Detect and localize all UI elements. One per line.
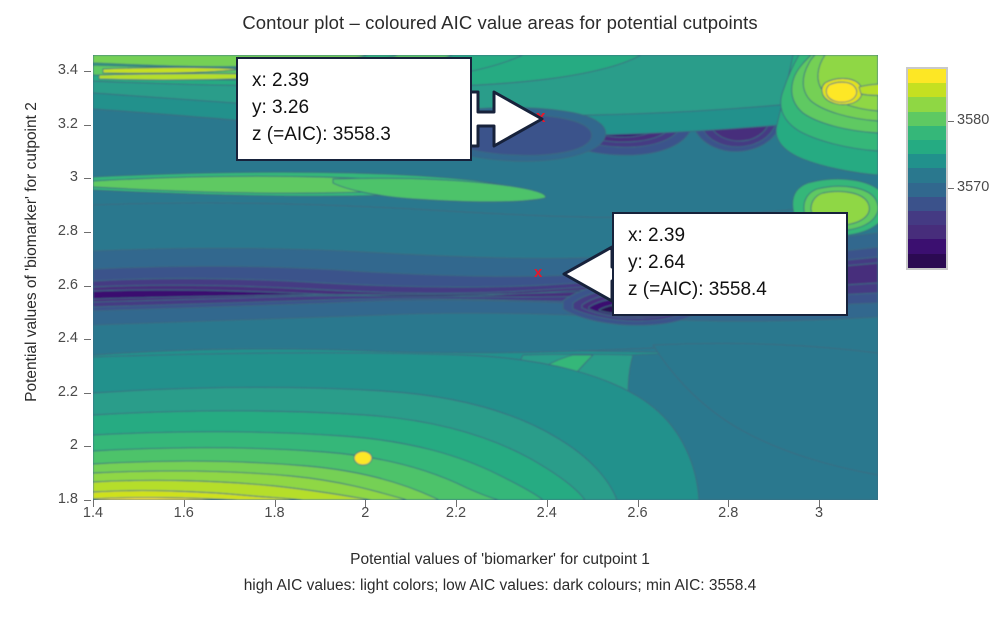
- colorbar-band: [908, 168, 946, 182]
- x-tick-mark: [638, 500, 639, 507]
- x-tick-mark: [184, 500, 185, 507]
- callout-lower-z: z (=AIC): 3558.4: [628, 277, 832, 304]
- y-tick-mark: [84, 286, 91, 287]
- callout-lower-x: x: 2.39: [628, 223, 832, 250]
- x-tick-mark: [728, 500, 729, 507]
- colorbar-band: [908, 154, 946, 168]
- y-tick-mark: [84, 339, 91, 340]
- colorbar-band: [908, 112, 946, 126]
- colorbar-band: [908, 254, 946, 268]
- colorbar-tick-mark: [948, 121, 954, 122]
- callout-minimum-lower: x: 2.39 y: 2.64 z (=AIC): 3558.4: [612, 212, 848, 316]
- y-tick-mark: [84, 393, 91, 394]
- x-tick-label: 2: [340, 505, 390, 521]
- x-tick-mark: [365, 500, 366, 507]
- callout-arrow-upper: [460, 86, 548, 152]
- colorbar-tick-label: 3580: [957, 112, 989, 128]
- x-tick-label: 1.8: [250, 505, 300, 521]
- x-tick-label: 1.4: [68, 505, 118, 521]
- x-tick-mark: [547, 500, 548, 507]
- x-axis-label: Potential values of 'biomarker' for cutp…: [0, 551, 1000, 569]
- x-tick-label: 3: [794, 505, 844, 521]
- colorbar-band: [908, 83, 946, 97]
- y-tick-mark: [84, 125, 91, 126]
- x-tick-label: 2.6: [613, 505, 663, 521]
- x-tick-mark: [456, 500, 457, 507]
- x-tick-label: 2.4: [522, 505, 572, 521]
- callout-lower-y: y: 2.64: [628, 250, 832, 277]
- callout-upper-x: x: 2.39: [252, 68, 456, 95]
- callout-minimum-upper: x: 2.39 y: 3.26 z (=AIC): 3558.3: [236, 57, 472, 161]
- y-tick-mark: [84, 178, 91, 179]
- chart-subcaption: high AIC values: light colors; low AIC v…: [0, 577, 1000, 595]
- colorbar-band: [908, 126, 946, 140]
- colorbar-band: [908, 239, 946, 253]
- x-tick-label: 2.2: [431, 505, 481, 521]
- colorbar-band: [908, 197, 946, 211]
- colorbar-band: [908, 97, 946, 111]
- x-tick-mark: [93, 500, 94, 507]
- callout-upper-y: y: 3.26: [252, 95, 456, 122]
- colorbar-band: [908, 225, 946, 239]
- colorbar-tick-mark: [948, 188, 954, 189]
- colorbar: [906, 67, 948, 270]
- colorbar-band: [908, 140, 946, 154]
- y-tick-mark: [84, 232, 91, 233]
- y-axis-label: Potential values of 'biomarker' for cutp…: [23, 42, 41, 462]
- y-tick-mark: [84, 446, 91, 447]
- colorbar-tick-label: 3570: [957, 179, 989, 195]
- colorbar-band: [908, 69, 946, 83]
- x-tick-label: 1.6: [159, 505, 209, 521]
- x-tick-mark: [819, 500, 820, 507]
- y-tick-mark: [84, 500, 91, 501]
- colorbar-band: [908, 211, 946, 225]
- y-tick-mark: [84, 71, 91, 72]
- callout-upper-z: z (=AIC): 3558.3: [252, 122, 456, 149]
- page-title: Contour plot – coloured AIC value areas …: [0, 12, 1000, 34]
- x-tick-label: 2.8: [703, 505, 753, 521]
- x-tick-mark: [275, 500, 276, 507]
- colorbar-band: [908, 183, 946, 197]
- minimum-marker-lower: x: [534, 264, 542, 281]
